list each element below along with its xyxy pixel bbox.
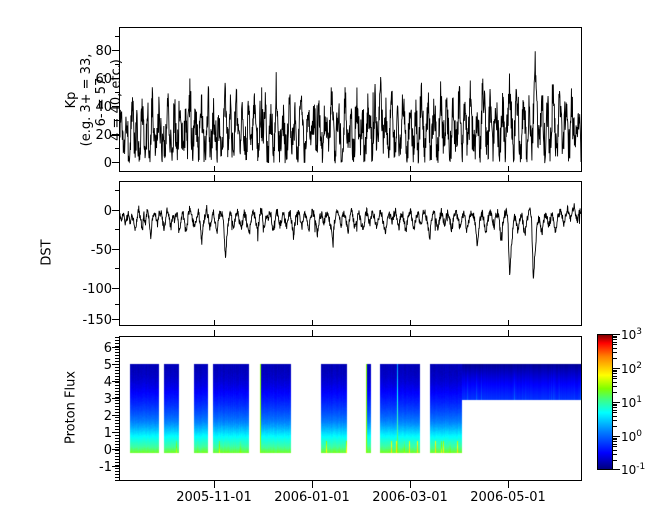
kp-plot-area bbox=[120, 28, 581, 171]
kp-ytick-40: 40 bbox=[78, 100, 112, 115]
colorbar-exponent-2: 1 bbox=[636, 395, 642, 405]
proton-flux-spectrogram-image bbox=[120, 337, 581, 480]
colorbar-mantissa-3: 10 bbox=[621, 430, 636, 444]
colorbar-exponent-1: 2 bbox=[636, 361, 642, 371]
dst-ytick-0: 0 bbox=[62, 204, 112, 219]
colorbar-mantissa-1: 10 bbox=[621, 362, 636, 376]
kp-ytick-20: 20 bbox=[78, 128, 112, 143]
flux-ytick-1: 1 bbox=[88, 426, 112, 441]
xtick-label-0: 2005-11-01 bbox=[164, 490, 264, 505]
colorbar-label-1em1: 10-1 bbox=[621, 462, 645, 477]
xtick-label-3: 2006-05-01 bbox=[458, 490, 558, 505]
colorbar-mantissa-4: 10 bbox=[621, 463, 636, 477]
dst-ytick-n50: -50 bbox=[62, 243, 112, 258]
flux-ytick-2: 2 bbox=[88, 409, 112, 424]
dst-ytick-n150: -150 bbox=[62, 313, 112, 328]
colorbar-label-1e1: 101 bbox=[621, 395, 642, 410]
kp-ytick-80: 80 bbox=[78, 44, 112, 59]
flux-ytick-6: 6 bbox=[88, 341, 112, 356]
colorbar-label-1e2: 102 bbox=[621, 361, 642, 376]
dst-ytick-n100: -100 bbox=[62, 282, 112, 297]
flux-ytick-3: 3 bbox=[88, 392, 112, 407]
colorbar-exponent-4: -1 bbox=[636, 462, 645, 472]
xtick-label-2: 2006-03-01 bbox=[360, 490, 460, 505]
kp-ytick-60: 60 bbox=[78, 72, 112, 87]
dst-plot-area bbox=[120, 182, 581, 325]
colorbar-exponent-3: 0 bbox=[636, 429, 642, 439]
colorbar bbox=[597, 334, 613, 470]
flux-ytick-5: 5 bbox=[88, 358, 112, 373]
kp-ytick-0: 0 bbox=[78, 156, 112, 171]
xtick-label-1: 2006-01-01 bbox=[262, 490, 362, 505]
colorbar-label-1e3: 103 bbox=[621, 327, 642, 342]
flux-ytick-4: 4 bbox=[88, 375, 112, 390]
flux-ytick-0: 0 bbox=[88, 443, 112, 458]
flux-ylabel: Proton Flux bbox=[64, 348, 79, 468]
dst-ylabel: DST bbox=[40, 223, 55, 283]
colorbar-exponent-0: 3 bbox=[636, 327, 642, 337]
colorbar-mantissa-2: 10 bbox=[621, 396, 636, 410]
colorbar-mantissa-0: 10 bbox=[621, 328, 636, 342]
flux-ytick-n1: -1 bbox=[82, 460, 112, 475]
figure-canvas: Kp (e.g. 3+ = 33, 6- = 57, 4 = 40, etc.)… bbox=[0, 0, 665, 523]
colorbar-label-1e0: 100 bbox=[621, 429, 642, 444]
